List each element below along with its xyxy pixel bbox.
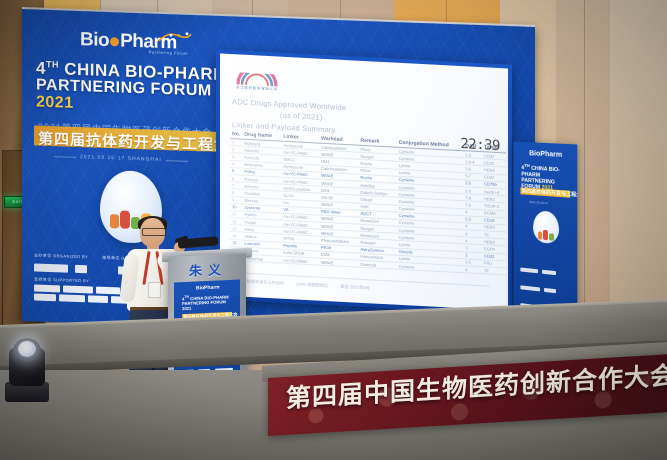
slide-footnotes: 注: 数据来源于公开资料DAR: 药物抗体比截至 2021年9月 xyxy=(240,273,490,298)
slide-footnote-item: 截至 2021年9月 xyxy=(340,284,370,292)
biopharm-logo: BioPharm Partnering Forum xyxy=(80,29,190,59)
logo-swoosh-icon xyxy=(158,30,192,45)
side-banner-date: 2021.09.15-17 xyxy=(529,200,548,205)
side-banner-food-icons xyxy=(538,228,556,243)
podium-banner-logo: BioPharm xyxy=(196,284,220,291)
table-cell: MMAE xyxy=(319,258,358,267)
sponsor-logo xyxy=(34,263,68,272)
slide-footnote-item: 注: 数据来源于公开资料 xyxy=(240,279,284,287)
podium-banner-title: 4TH CHINA BIO-PHARM PARTNERING FORUM 202… xyxy=(182,293,234,312)
sponsor-logo xyxy=(59,294,85,302)
projection-screen: 浙江医药股份有限公司 ADC Drugs Approved Worldwide … xyxy=(216,49,512,315)
logo-tagline: Partnering Forum xyxy=(149,49,188,55)
organized-by-label: 主办单位 ORGANIZED BY xyxy=(34,252,88,260)
side-banner-logo: BioPharm xyxy=(529,150,562,159)
presentation-clock: 22:39 xyxy=(460,136,500,154)
table-cell: mc-VC-PABC xyxy=(281,256,319,265)
light-lens-icon xyxy=(18,341,36,357)
sponsor-logo xyxy=(96,287,120,295)
table-cell: 4 xyxy=(463,266,482,274)
table-cell: TF xyxy=(482,267,506,275)
sponsor-logo xyxy=(63,285,93,293)
conference-photo-scene: EXIT BioPharm Partnering Forum 4TH CHINA… xyxy=(0,0,667,460)
presenter-glasses xyxy=(142,228,166,236)
moving-head-stage-light xyxy=(5,336,49,402)
table-cell: Genmab xyxy=(358,260,396,269)
backdrop-title-line2: PARTNERING FORUM 2021 xyxy=(36,78,241,119)
company-logo-cn-text: 浙江医药股份有限公司 xyxy=(236,84,278,91)
wall-panel-beige-h xyxy=(610,0,667,340)
sponsor-logo xyxy=(75,265,87,273)
backdrop-date-line: 2021.09.15-17 SHANGHAI xyxy=(80,154,162,163)
logo-dot-icon xyxy=(110,37,119,46)
logo-word-bio: Bio xyxy=(80,29,109,51)
presentation-slide: 浙江医药股份有限公司 ADC Drugs Approved Worldwide … xyxy=(220,53,508,310)
table-body: 1MylotargHydrazoneCalicheamicinPfizerCys… xyxy=(230,138,506,275)
sponsor-logo xyxy=(88,295,108,303)
backdrop-title-year: 2021 xyxy=(36,94,74,112)
name-badge xyxy=(148,282,161,298)
slide-footnote-item: DAR: 药物抗体比 xyxy=(296,281,328,289)
sponsor-logo xyxy=(34,293,56,301)
backdrop-title: 4TH CHINA BIO-PHARM PARTNERING FORUM 202… xyxy=(36,60,241,119)
company-logo: 浙江医药股份有限公司 xyxy=(234,72,280,94)
podium-speaker-name: 朱义 xyxy=(176,259,240,281)
sponsor-logo xyxy=(34,284,60,292)
